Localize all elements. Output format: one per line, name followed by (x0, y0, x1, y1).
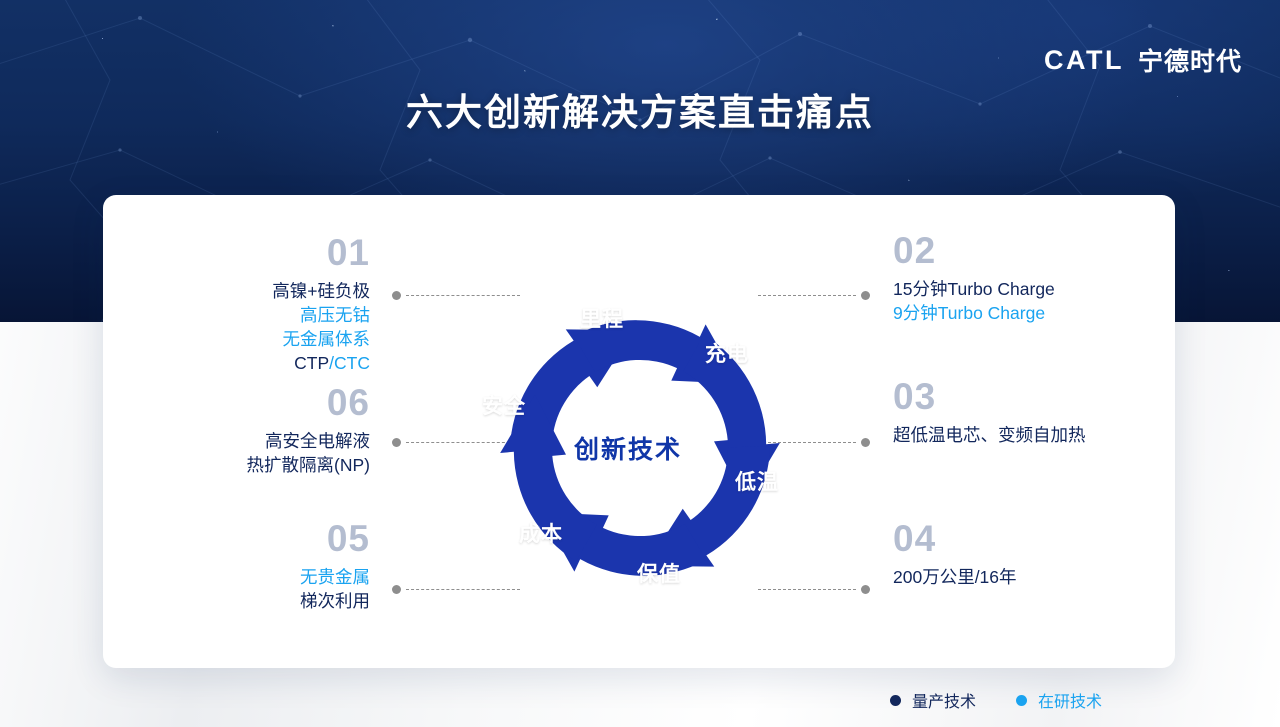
item-line: 无金属体系 (150, 327, 370, 351)
solution-item-03[interactable]: 03 超低温电芯、变频自加热 (893, 378, 1193, 447)
item-line-part-blue: /CTC (329, 353, 370, 373)
solution-item-01[interactable]: 01 高镍+硅负极 高压无钴 无金属体系 CTP/CTC (150, 234, 370, 375)
connector-dot (392, 585, 401, 594)
legend-dot-icon (890, 695, 901, 706)
connector-dot (861, 438, 870, 447)
item-lines: 15分钟Turbo Charge 9分钟Turbo Charge (893, 277, 1193, 325)
item-line: 无贵金属 (150, 565, 370, 589)
legend-item-in-research: 在研技术 (1016, 688, 1102, 712)
item-number: 05 (150, 520, 370, 557)
item-line-mixed: CTP/CTC (150, 351, 370, 375)
legend-dot-icon (1016, 695, 1027, 706)
item-number: 01 (150, 234, 370, 271)
legend-label: 在研技术 (1038, 688, 1102, 712)
item-line: 高压无钴 (150, 303, 370, 327)
connector-dot (861, 291, 870, 300)
solution-item-02[interactable]: 02 15分钟Turbo Charge 9分钟Turbo Charge (893, 232, 1193, 325)
brand-logo-latin: CATL (1044, 45, 1124, 76)
solution-item-06[interactable]: 06 高安全电解液 热扩散隔离(NP) (150, 384, 370, 477)
cycle-center-label: 创新技术 (574, 430, 682, 466)
item-line: 9分钟Turbo Charge (893, 301, 1193, 325)
legend-label: 量产技术 (912, 688, 976, 712)
item-lines: 无贵金属 梯次利用 (150, 565, 370, 613)
item-line: 200万公里/16年 (893, 565, 1193, 589)
connector-dot (861, 585, 870, 594)
item-lines: 高安全电解液 热扩散隔离(NP) (150, 429, 370, 477)
solution-item-05[interactable]: 05 无贵金属 梯次利用 (150, 520, 370, 613)
brand-logo-chinese: 宁德时代 (1138, 42, 1242, 78)
slide-canvas: CATL 宁德时代 六大创新解决方案直击痛点 01 高镍+硅负极 高压无钴 无金… (0, 0, 1280, 727)
item-line: 高安全电解液 (150, 429, 370, 453)
connector-dot (392, 438, 401, 447)
item-line: 15分钟Turbo Charge (893, 277, 1193, 301)
item-lines: 高镍+硅负极 高压无钴 无金属体系 CTP/CTC (150, 279, 370, 375)
item-line: 梯次利用 (150, 589, 370, 613)
page-title: 六大创新解决方案直击痛点 (0, 82, 1280, 136)
connector-dot (392, 291, 401, 300)
item-number: 02 (893, 232, 1193, 269)
item-line-part-dark: CTP (294, 353, 329, 373)
item-line: 超低温电芯、变频自加热 (893, 423, 1193, 447)
cycle-diagram: 里程 充电 低温 保值 成本 安全 创新技术 (452, 248, 828, 648)
item-number: 06 (150, 384, 370, 421)
brand-logo: CATL 宁德时代 (1044, 42, 1242, 78)
item-line: 热扩散隔离(NP) (150, 453, 370, 477)
legend-item-mass-production: 量产技术 (890, 688, 976, 712)
item-lines: 超低温电芯、变频自加热 (893, 423, 1193, 447)
item-lines: 200万公里/16年 (893, 565, 1193, 589)
item-line: 高镍+硅负极 (150, 279, 370, 303)
item-number: 04 (893, 520, 1193, 557)
item-number: 03 (893, 378, 1193, 415)
legend: 量产技术 在研技术 (890, 688, 1102, 712)
solution-item-04[interactable]: 04 200万公里/16年 (893, 520, 1193, 589)
